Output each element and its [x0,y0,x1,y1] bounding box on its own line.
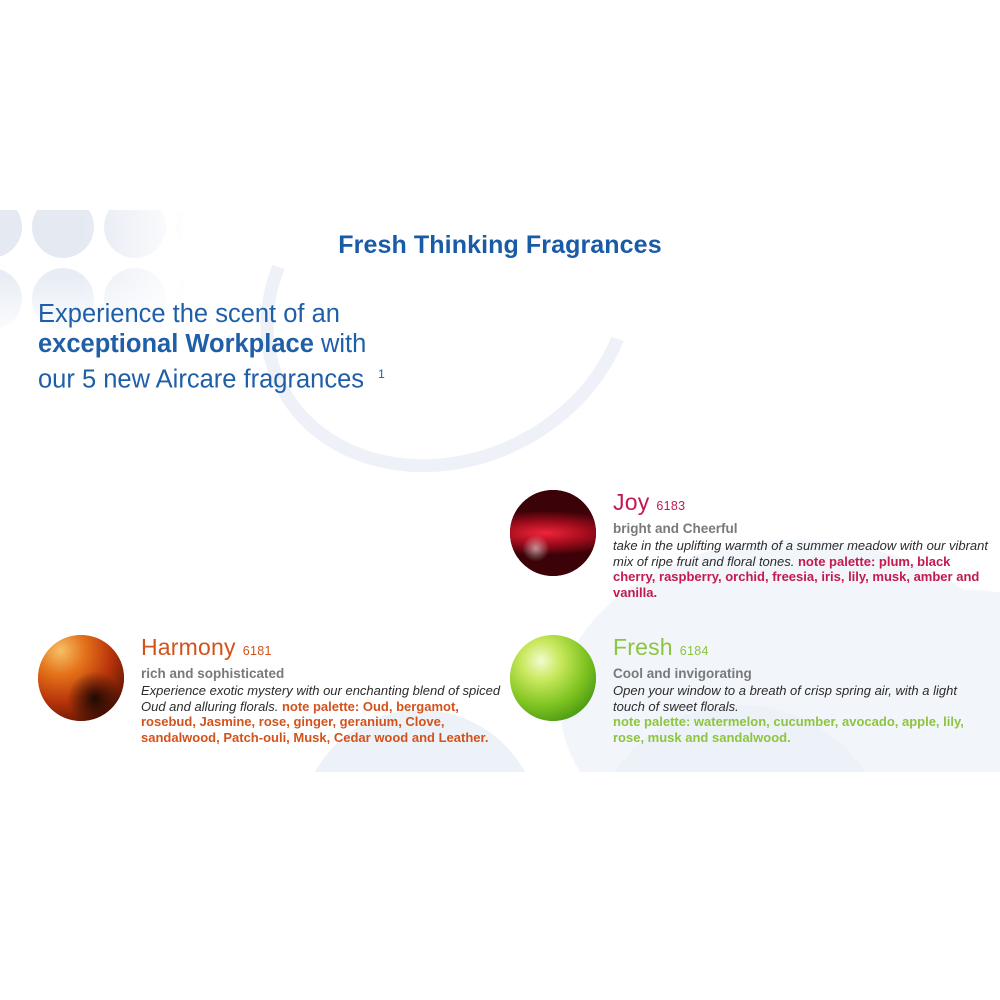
fresh-palette: note palette: watermelon, cucumber, avoc… [613,714,990,745]
joy-sphere-image [510,490,596,576]
intro-footnote-marker: 1 [378,367,385,381]
fresh-description: Open your window to a breath of crisp sp… [613,683,990,714]
joy-notes-label: note palette: [798,554,875,569]
harmony-name: Harmony [141,634,236,660]
fresh-sphere-image [510,635,596,721]
joy-name: Joy [613,489,649,515]
joy-description: take in the uplifting warmth of a summer… [613,538,990,600]
harmony-notes-label: note palette: [282,699,359,714]
fresh-code: 6184 [680,644,709,658]
joy-details: Joy6183 bright and Cheerful take in the … [613,490,990,600]
joy-name-row: Joy6183 [613,490,990,519]
harmony-sphere-image [38,635,124,721]
fresh-notes-label: note palette: [613,714,690,729]
intro-line-2: exceptional Workplace with [38,329,508,359]
harmony-tagline: rich and sophisticated [141,666,508,682]
fresh-name-row: Fresh6184 [613,635,990,664]
fresh-tagline: Cool and invigorating [613,666,990,682]
slide-canvas: Fresh Thinking Fragrances Experience the… [0,210,1000,772]
fresh-name: Fresh [613,634,673,660]
intro-line-1: Experience the scent of an [38,299,508,329]
harmony-code: 6181 [243,644,272,658]
fresh-description-text: Open your window to a breath of crisp sp… [613,683,957,714]
harmony-description: Experience exotic mystery with our encha… [141,683,508,745]
intro-line-2-tail: with [314,330,366,358]
fresh-details: Fresh6184 Cool and invigorating Open you… [613,635,990,745]
intro-line-3-text: our 5 new Aircare fragrances [38,366,364,394]
intro-emphasis: exceptional Workplace [38,330,314,358]
intro-headline: Experience the scent of an exceptional W… [38,299,508,395]
harmony-name-row: Harmony6181 [141,635,508,664]
intro-line-3: our 5 new Aircare fragrances 1 [38,359,508,395]
harmony-details: Harmony6181 rich and sophisticated Exper… [141,635,508,745]
joy-tagline: bright and Cheerful [613,521,990,537]
joy-code: 6183 [656,499,685,513]
page-title: Fresh Thinking Fragrances [0,231,1000,260]
